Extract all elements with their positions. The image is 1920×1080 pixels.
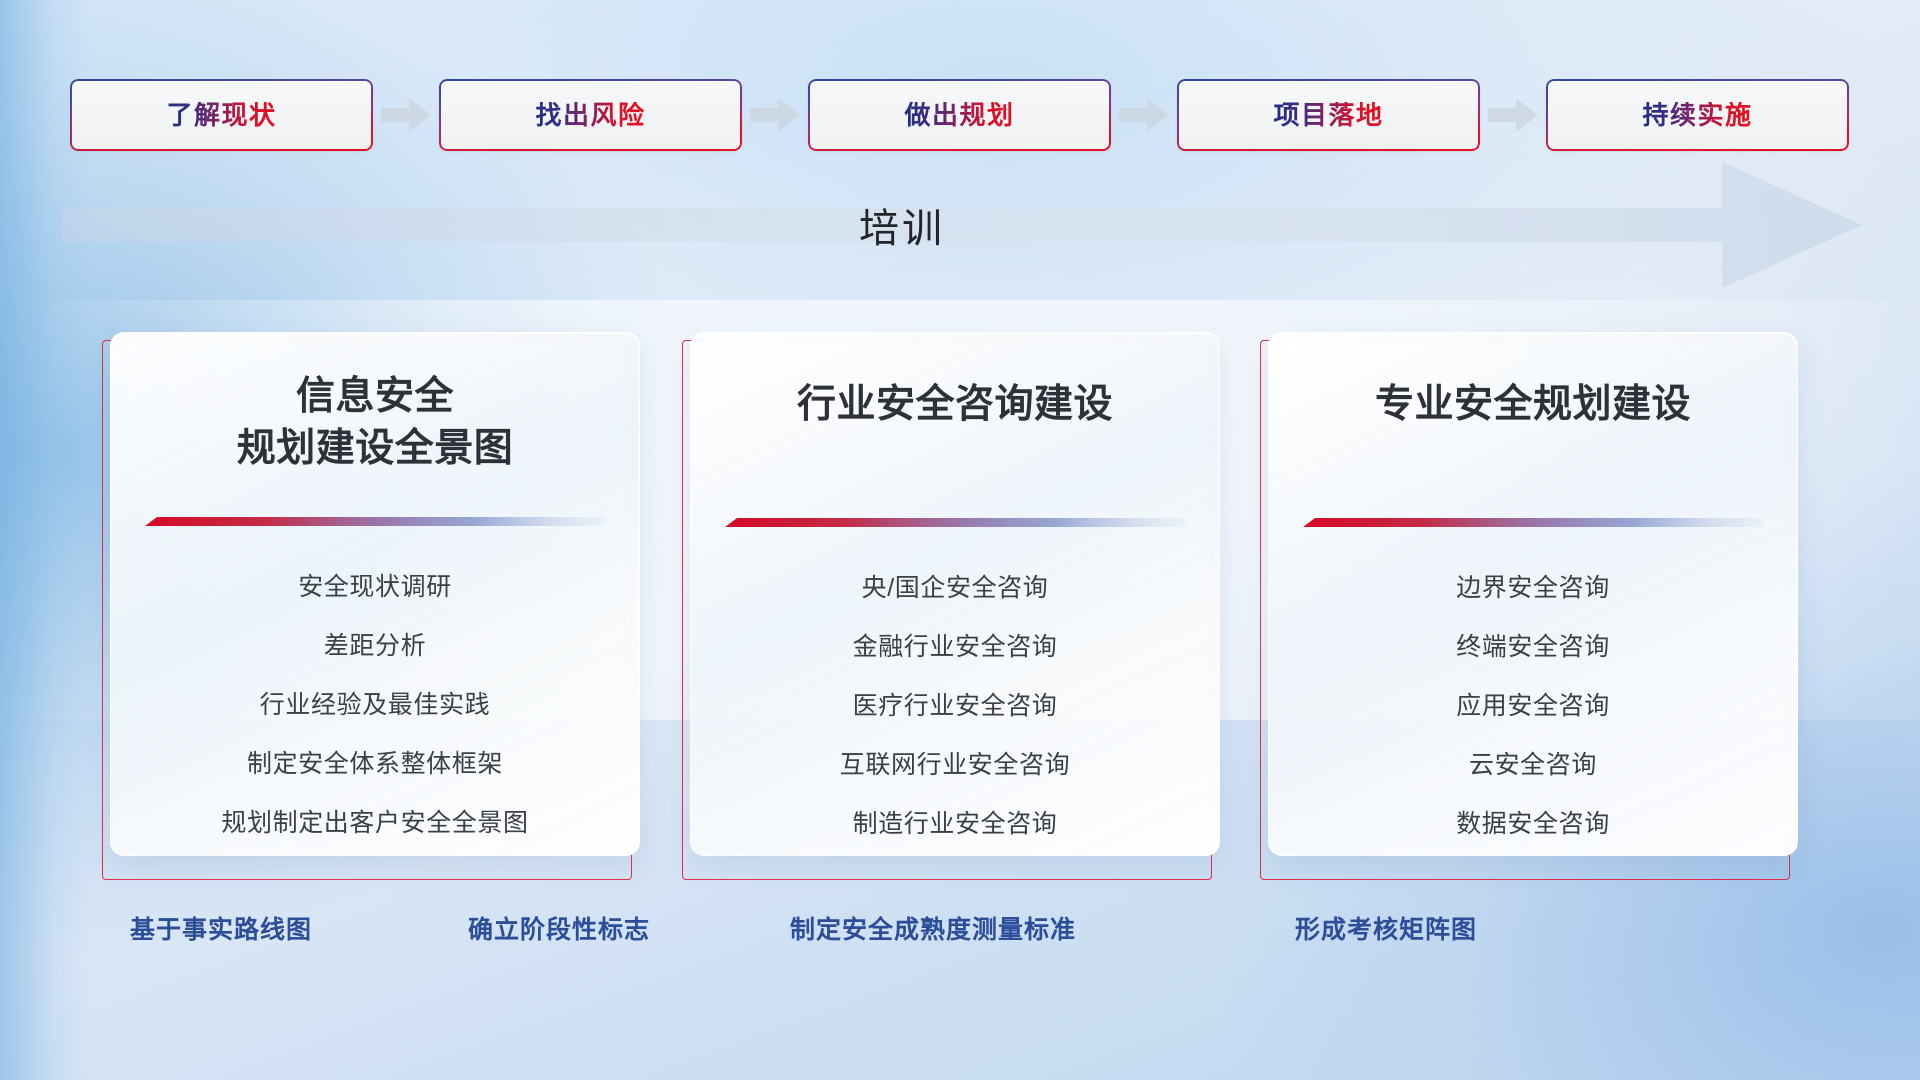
step-label-4: 项目落地 xyxy=(1273,102,1383,128)
card-3-title: 专业安全规划建设 xyxy=(1295,379,1771,431)
card-3[interactable]: 专业安全规划建设 xyxy=(1268,332,1798,880)
list-item: 金融行业安全咨询 xyxy=(717,635,1193,660)
card-1[interactable]: 信息安全 规划建设全景图 xyxy=(110,332,640,880)
list-item: 规划制定出客户安全全景图 xyxy=(137,811,613,836)
card-row: 信息安全 规划建设全景图 xyxy=(0,332,1920,882)
step-box-4[interactable]: 项目落地 xyxy=(1177,79,1480,151)
list-item: 数据安全咨询 xyxy=(1295,812,1771,837)
bottom-label-row: 基于事实路线图 确立阶段性标志 制定安全成熟度测量标准 形成考核矩阵图 xyxy=(0,918,1920,968)
card-2-title: 行业安全咨询建设 xyxy=(717,379,1193,431)
training-banner: 培训 xyxy=(62,162,1862,288)
step-label-1: 了解现状 xyxy=(166,102,276,128)
gradient-divider-icon xyxy=(725,516,1185,531)
card-1-title: 信息安全 规划建设全景图 xyxy=(137,371,613,475)
step-arrow-icon-3 xyxy=(1111,98,1177,132)
gradient-divider-icon xyxy=(145,515,605,530)
list-item: 行业经验及最佳实践 xyxy=(137,693,613,718)
card-3-body[interactable]: 专业安全规划建设 xyxy=(1268,332,1798,856)
list-item: 应用安全咨询 xyxy=(1295,694,1771,719)
slide-canvas: 了解现状 找出风险 做出规划 项目落地 xyxy=(0,0,1920,1080)
card-3-divider xyxy=(1303,516,1763,531)
step-box-5[interactable]: 持续实施 xyxy=(1546,79,1849,151)
step-label-5: 持续实施 xyxy=(1642,102,1752,128)
card-3-list: 边界安全咨询 终端安全咨询 应用安全咨询 云安全咨询 数据安全咨询 xyxy=(1295,576,1771,837)
bottom-label-4: 形成考核矩阵图 xyxy=(1295,918,1477,943)
step-arrow-icon-2 xyxy=(742,98,808,132)
list-item: 安全现状调研 xyxy=(137,575,613,600)
list-item: 央/国企安全咨询 xyxy=(717,576,1193,601)
bottom-label-2: 确立阶段性标志 xyxy=(468,918,650,943)
step-box-1[interactable]: 了解现状 xyxy=(70,79,373,151)
list-item: 边界安全咨询 xyxy=(1295,576,1771,601)
list-item: 医疗行业安全咨询 xyxy=(717,694,1193,719)
card-1-list: 安全现状调研 差距分析 行业经验及最佳实践 制定安全体系整体框架 规划制定出客户… xyxy=(137,575,613,836)
step-arrow-icon-1 xyxy=(373,98,439,132)
step-arrow-icon-4 xyxy=(1480,98,1546,132)
list-item: 差距分析 xyxy=(137,634,613,659)
card-2[interactable]: 行业安全咨询建设 xyxy=(690,332,1220,880)
list-item: 终端安全咨询 xyxy=(1295,635,1771,660)
card-1-divider xyxy=(145,515,605,530)
bottom-label-1: 基于事实路线图 xyxy=(130,918,312,943)
list-item: 云安全咨询 xyxy=(1295,753,1771,778)
list-item: 制定安全体系整体框架 xyxy=(137,752,613,777)
bottom-label-3: 制定安全成熟度测量标准 xyxy=(790,918,1076,943)
card-2-divider xyxy=(725,516,1185,531)
process-step-row: 了解现状 找出风险 做出规划 项目落地 xyxy=(70,78,1860,152)
card-2-list: 央/国企安全咨询 金融行业安全咨询 医疗行业安全咨询 互联网行业安全咨询 制造行… xyxy=(717,576,1193,837)
step-label-3: 做出规划 xyxy=(904,102,1014,128)
list-item: 制造行业安全咨询 xyxy=(717,812,1193,837)
card-1-body[interactable]: 信息安全 规划建设全景图 xyxy=(110,332,640,856)
card-2-body[interactable]: 行业安全咨询建设 xyxy=(690,332,1220,856)
step-box-2[interactable]: 找出风险 xyxy=(439,79,742,151)
gradient-divider-icon xyxy=(1303,516,1763,531)
training-banner-label: 培训 xyxy=(62,162,1742,288)
step-label-2: 找出风险 xyxy=(535,102,645,128)
step-box-3[interactable]: 做出规划 xyxy=(808,79,1111,151)
list-item: 互联网行业安全咨询 xyxy=(717,753,1193,778)
